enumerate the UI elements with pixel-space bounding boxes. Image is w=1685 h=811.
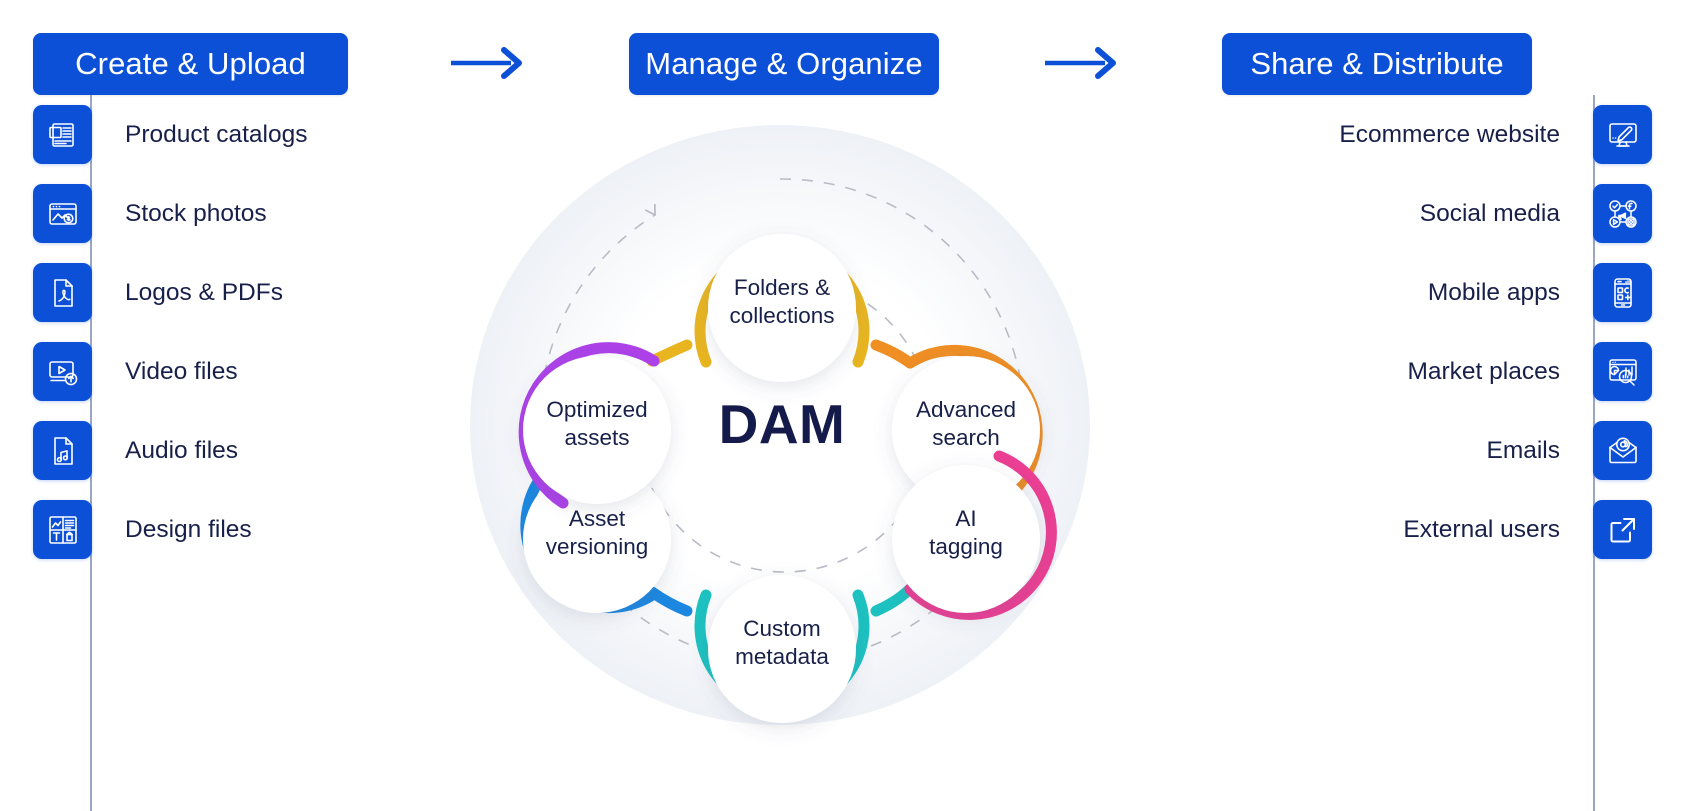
list-item-label: Product catalogs	[125, 121, 308, 149]
list-item[interactable]: Market places	[1222, 332, 1652, 411]
node-label-line2: versioning	[546, 534, 649, 559]
audio-file-icon	[33, 421, 92, 480]
node-label-line1: Advanced	[916, 397, 1016, 422]
list-item-label: External users	[1403, 516, 1560, 544]
list-item-label: Logos & PDFs	[125, 279, 283, 307]
product-catalog-icon	[33, 105, 92, 164]
mobile-app-icon	[1593, 263, 1652, 322]
node-label-line2: tagging	[929, 534, 1003, 559]
video-upload-icon	[33, 342, 92, 401]
list-item[interactable]: Audio files	[33, 411, 423, 490]
list-item-label: Video files	[125, 358, 238, 386]
marketplace-analytics-icon	[1593, 342, 1652, 401]
stage-header-label: Manage & Organize	[645, 46, 922, 82]
design-file-icon	[33, 500, 92, 559]
external-link-icon	[1593, 500, 1652, 559]
list-item[interactable]: Emails	[1222, 411, 1652, 490]
pdf-file-icon	[33, 263, 92, 322]
node-label-line1: Optimized	[546, 397, 647, 422]
social-media-icon	[1593, 184, 1652, 243]
list-item[interactable]: Design files	[33, 490, 423, 569]
list-item-label: Ecommerce website	[1339, 121, 1560, 149]
list-item-label: Stock photos	[125, 200, 267, 228]
create-upload-list: Product catalogs Stock photos	[33, 95, 423, 569]
list-item[interactable]: Stock photos	[33, 174, 423, 253]
right-arrow-icon	[449, 44, 527, 87]
stage-header-label: Share & Distribute	[1250, 46, 1503, 82]
node-label-line2: assets	[564, 425, 629, 450]
list-item[interactable]: Video files	[33, 332, 423, 411]
stock-photo-icon	[33, 184, 92, 243]
dam-cycle-diagram: Folders & collections Advanced search AI…	[455, 95, 1095, 775]
list-item-label: Social media	[1420, 200, 1560, 228]
diagram-canvas: Create & Upload Manage & Organize Share …	[0, 0, 1685, 811]
list-item[interactable]: Product catalogs	[33, 95, 423, 174]
cycle-center-label: DAM	[719, 393, 846, 455]
list-item[interactable]: Social media	[1222, 174, 1652, 253]
stage-header-share-distribute[interactable]: Share & Distribute	[1222, 33, 1532, 95]
list-item[interactable]: Mobile apps	[1222, 253, 1652, 332]
list-item-label: Design files	[125, 516, 252, 544]
right-arrow-icon	[1043, 44, 1121, 87]
share-distribute-list: Ecommerce website Social media	[1222, 95, 1652, 569]
node-label-line2: search	[932, 425, 1000, 450]
list-item-label: Audio files	[125, 437, 238, 465]
node-label-line2: metadata	[735, 644, 829, 669]
list-item-label: Emails	[1486, 437, 1560, 465]
email-at-icon	[1593, 421, 1652, 480]
list-item-label: Mobile apps	[1428, 279, 1560, 307]
stage-header-create-upload[interactable]: Create & Upload	[33, 33, 348, 95]
node-label-line1: Asset	[569, 506, 626, 531]
node-label-line2: collections	[729, 303, 834, 328]
website-design-icon	[1593, 105, 1652, 164]
list-item[interactable]: Ecommerce website	[1222, 95, 1652, 174]
node-label-line1: AI	[955, 506, 976, 531]
list-item[interactable]: Logos & PDFs	[33, 253, 423, 332]
stage-header-manage-organize[interactable]: Manage & Organize	[629, 33, 939, 95]
list-item[interactable]: External users	[1222, 490, 1652, 569]
node-label-line1: Custom	[743, 616, 821, 641]
stage-header-label: Create & Upload	[75, 46, 306, 82]
list-item-label: Market places	[1407, 358, 1560, 386]
node-label-line1: Folders &	[734, 275, 830, 300]
